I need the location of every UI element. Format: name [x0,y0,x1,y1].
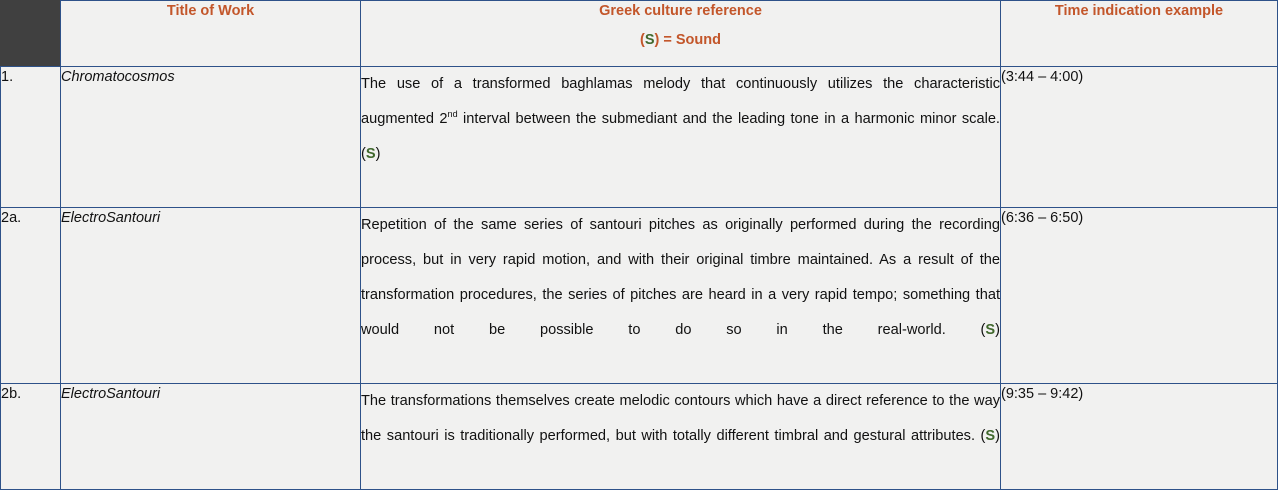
row-time-indication: (3:44 – 4:00) [1001,67,1278,208]
column-header-index [1,1,61,67]
table-header-row: Title of Work Greek culture reference (S… [1,1,1278,67]
row-time-indication: (9:35 – 9:42) [1001,384,1278,490]
table-header: Title of Work Greek culture reference (S… [1,1,1278,67]
row-index: 2b. [1,384,61,490]
row-title-of-work: Chromatocosmos [61,67,361,208]
reference-text-part3: ) [376,146,381,162]
table-row: 1. Chromatocosmos The use of a transform… [1,67,1278,208]
sound-marker-icon: S [985,322,995,338]
table-row: 2a. ElectroSantouri Repetition of the sa… [1,208,1278,384]
column-header-title-of-work: Title of Work [61,1,361,67]
work-reference-table: Title of Work Greek culture reference (S… [0,0,1278,490]
work-reference-table-container: Title of Work Greek culture reference (S… [0,0,1278,490]
reference-superscript: nd [448,109,458,119]
row-title-of-work: ElectroSantouri [61,384,361,490]
column-header-greek-culture-reference-label: Greek culture reference [361,1,1000,21]
reference-text-part3: ) [995,322,1000,338]
column-header-title-of-work-label: Title of Work [61,1,360,21]
sound-marker-icon: S [366,146,376,162]
row-greek-culture-reference: Repetition of the same series of santour… [361,208,1001,384]
sound-marker-icon: S [985,428,995,444]
row-greek-culture-reference: The use of a transformed baghlamas melod… [361,67,1001,208]
row-greek-culture-reference: The transformations themselves create me… [361,384,1001,490]
column-header-greek-culture-reference: Greek culture reference (S) = Sound [361,1,1001,67]
row-index: 1. [1,67,61,208]
sound-legend-suffix: ) = Sound [655,32,721,48]
reference-text-part2: interval between the submediant and the … [361,111,1000,162]
row-index: 2a. [1,208,61,384]
reference-text-part1: Repetition of the same series of santour… [361,217,1000,338]
table-row: 2b. ElectroSantouri The transformations … [1,384,1278,490]
reference-text-part1: The transformations themselves create me… [361,393,1000,444]
table-body: 1. Chromatocosmos The use of a transform… [1,67,1278,490]
column-header-time-indication-example-label: Time indication example [1001,1,1277,21]
sound-legend-symbol: S [645,32,655,48]
row-title-of-work: ElectroSantouri [61,208,361,384]
column-header-time-indication-example: Time indication example [1001,1,1278,67]
reference-text-part3: ) [995,428,1000,444]
sound-legend: (S) = Sound [361,30,1000,50]
row-time-indication: (6:36 – 6:50) [1001,208,1278,384]
